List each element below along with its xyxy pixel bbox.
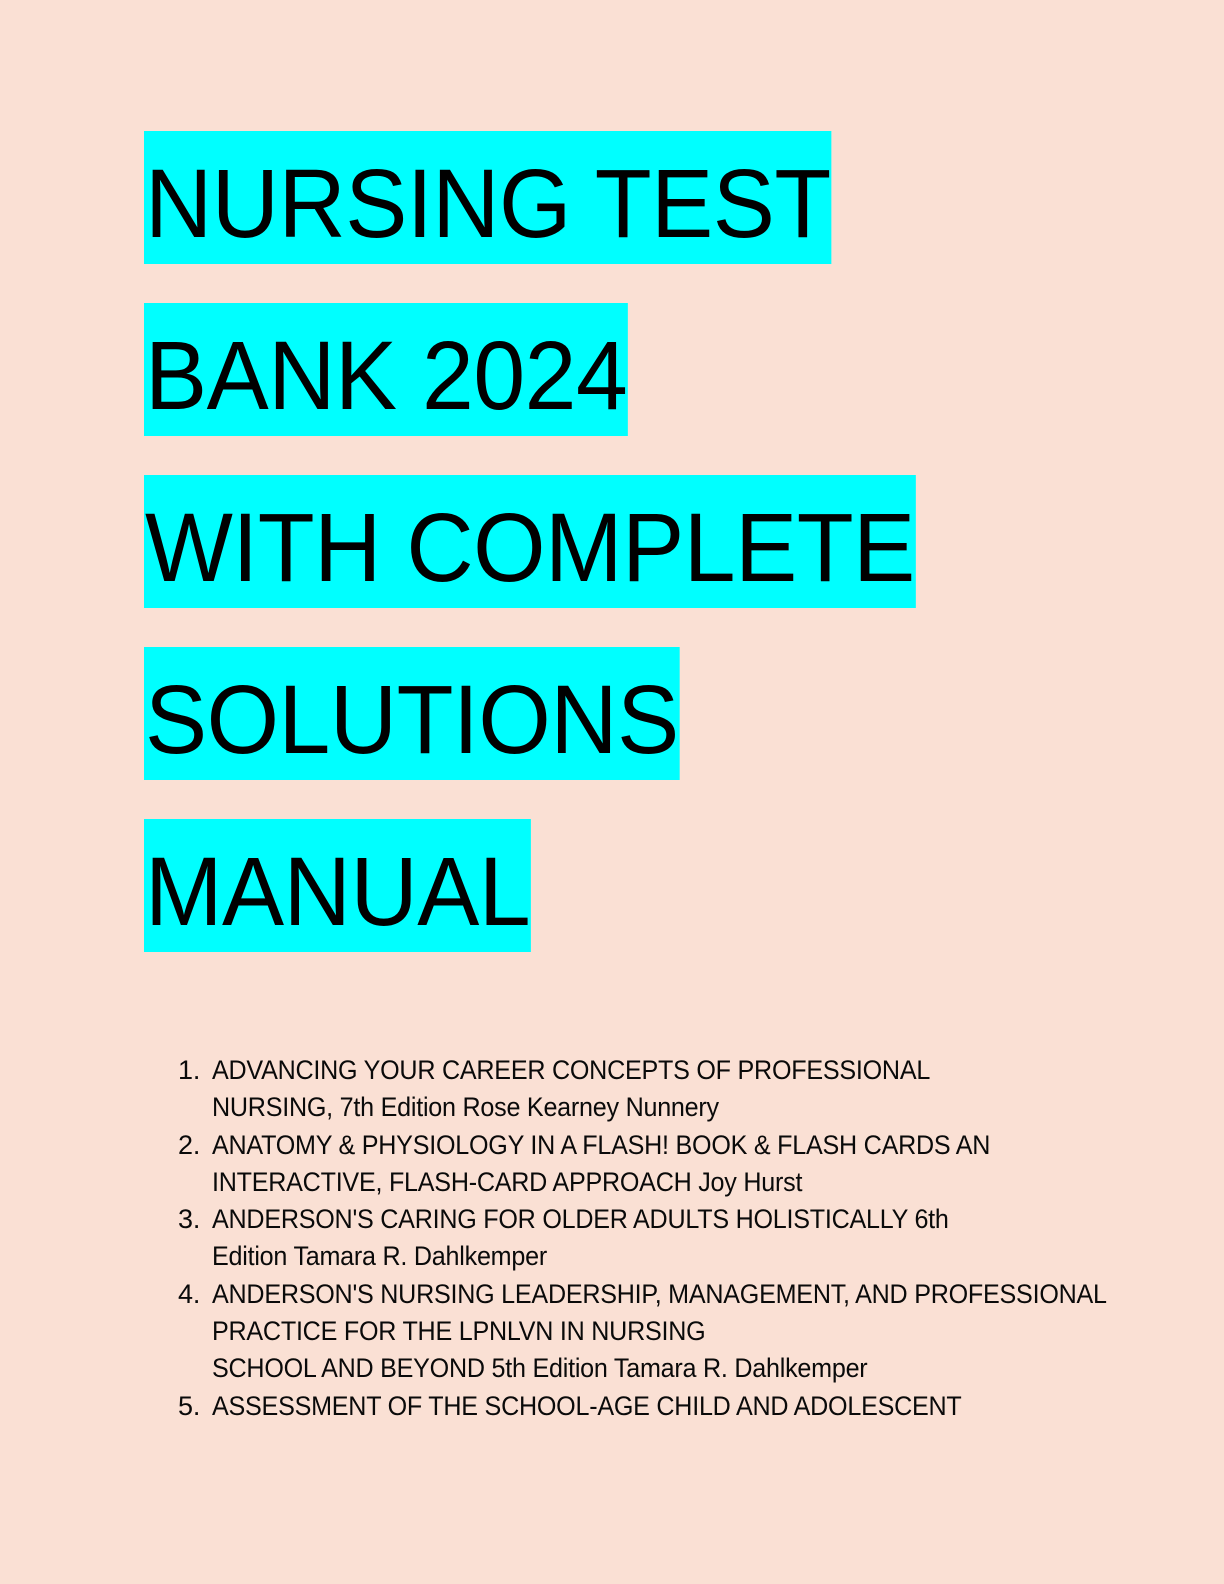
title-line-3-text: WITH COMPLETE [144, 475, 916, 608]
list-item-line: SCHOOL AND BEYOND 5th Edition Tamara R. … [212, 1350, 1017, 1387]
list-item-line: ANATOMY & PHYSIOLOGY IN A FLASH! BOOK & … [212, 1127, 1017, 1164]
list-item-number: 2. [178, 1127, 206, 1164]
list-item: 5. ASSESSMENT OF THE SCHOOL-AGE CHILD AN… [178, 1388, 1078, 1425]
document-page: NURSING TEST BANK 2024 WITH COMPLETE SOL… [0, 0, 1224, 1584]
list-item-line: NURSING, 7th Edition Rose Kearney Nunner… [212, 1089, 1017, 1126]
list-item: 1. ADVANCING YOUR CAREER CONCEPTS OF PRO… [178, 1052, 1078, 1127]
list-item-line: ADVANCING YOUR CAREER CONCEPTS OF PROFES… [212, 1052, 1017, 1089]
book-list: 1. ADVANCING YOUR CAREER CONCEPTS OF PRO… [178, 1052, 1078, 1425]
title-line-1: NURSING TEST [144, 131, 1044, 303]
list-item-line: Edition Tamara R. Dahlkemper [212, 1238, 1017, 1275]
title-line-2-text: BANK 2024 [144, 303, 628, 436]
list-item-number: 3. [178, 1201, 206, 1238]
list-item-number: 4. [178, 1276, 206, 1313]
title-line-5-text: MANUAL [144, 819, 531, 952]
title-line-5: MANUAL [144, 819, 1044, 991]
list-item-line: ANDERSON'S CARING FOR OLDER ADULTS HOLIS… [212, 1201, 1017, 1238]
title-line-3: WITH COMPLETE [144, 475, 1044, 647]
title-line-4-text: SOLUTIONS [144, 647, 680, 780]
list-item: 2. ANATOMY & PHYSIOLOGY IN A FLASH! BOOK… [178, 1127, 1078, 1202]
title-line-4: SOLUTIONS [144, 647, 1044, 819]
list-item-line: ASSESSMENT OF THE SCHOOL-AGE CHILD AND A… [212, 1388, 1017, 1425]
book-list-section: 1. ADVANCING YOUR CAREER CONCEPTS OF PRO… [178, 1052, 1078, 1425]
title-line-2: BANK 2024 [144, 303, 1044, 475]
list-item-line: INTERACTIVE, FLASH-CARD APPROACH Joy Hur… [212, 1164, 1017, 1201]
list-item-number: 1. [178, 1052, 206, 1089]
list-item: 4. ANDERSON'S NURSING LEADERSHIP, MANAGE… [178, 1276, 1078, 1388]
list-item-line: PRACTICE FOR THE LPNLVN IN NURSING [212, 1313, 1017, 1350]
list-item-number: 5. [178, 1388, 206, 1425]
title-line-1-text: NURSING TEST [144, 131, 832, 264]
list-item-line: ANDERSON'S NURSING LEADERSHIP, MANAGEMEN… [212, 1276, 1017, 1313]
document-title: NURSING TEST BANK 2024 WITH COMPLETE SOL… [144, 131, 1044, 991]
list-item: 3. ANDERSON'S CARING FOR OLDER ADULTS HO… [178, 1201, 1078, 1276]
